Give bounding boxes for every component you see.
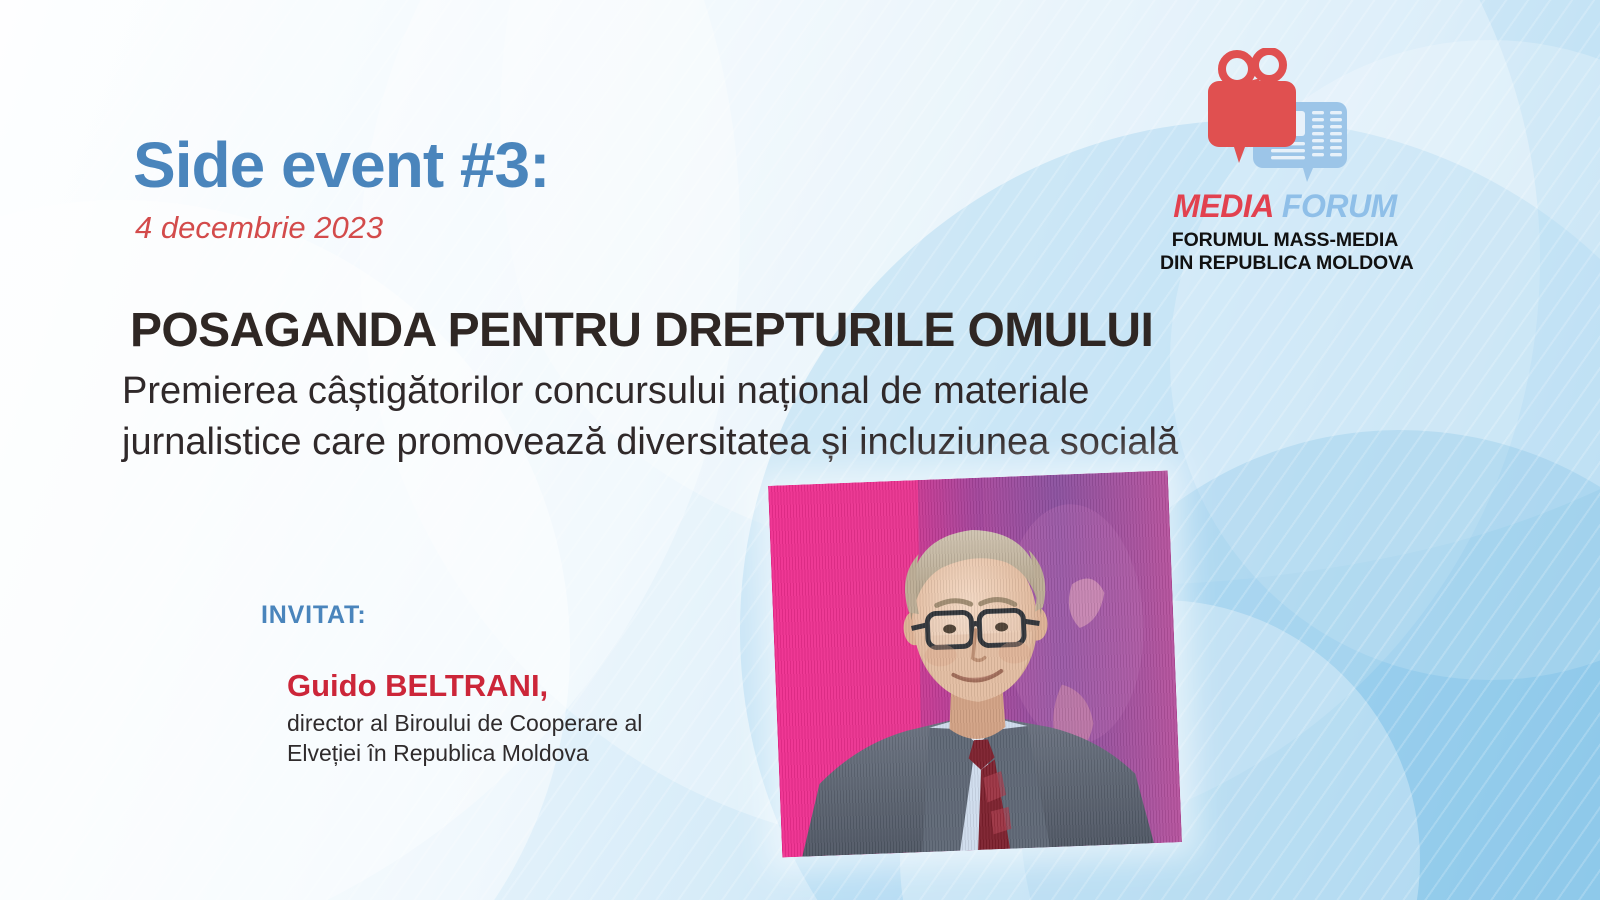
subtitle-line-1: Premierea câștigătorilor concursului naț… bbox=[122, 366, 1178, 417]
portrait-illustration bbox=[768, 470, 1182, 857]
event-date: 4 decembrie 2023 bbox=[135, 210, 383, 246]
logo-subtitle: FORUMUL MASS-MEDIA DIN REPUBLICA MOLDOVA bbox=[1160, 229, 1410, 275]
logo-subtitle-line-1: FORUMUL MASS-MEDIA bbox=[1160, 229, 1410, 252]
guest-photo bbox=[768, 470, 1182, 857]
logo-word-media: MEDIA bbox=[1173, 188, 1274, 224]
event-poster: Side event #3: 4 decembrie 2023 POSAGAND… bbox=[0, 0, 1600, 900]
event-kicker: Side event #3: bbox=[133, 133, 549, 198]
guest-label: INVITAT: bbox=[261, 601, 366, 630]
guest-role: director al Biroului de Cooperare al Elv… bbox=[287, 708, 642, 769]
logo-wordmark: MEDIAFORUM bbox=[1160, 190, 1410, 222]
logo-subtitle-line-2: DIN REPUBLICA MOLDOVA bbox=[1160, 252, 1410, 275]
logo-word-forum: FORUM bbox=[1282, 188, 1397, 224]
guest-name: Guido BELTRANI, bbox=[287, 668, 548, 704]
media-forum-logo: MEDIAFORUM FORUMUL MASS-MEDIA DIN REPUBL… bbox=[1160, 48, 1410, 275]
subtitle-line-2: jurnalistice care promovează diversitate… bbox=[122, 417, 1178, 468]
page-title: POSAGANDA PENTRU DREPTURILE OMULUI bbox=[130, 303, 1153, 358]
page-subtitle: Premierea câștigătorilor concursului naț… bbox=[122, 366, 1178, 467]
photo-frame bbox=[768, 470, 1182, 857]
logo-mark bbox=[1185, 48, 1385, 184]
guest-role-line-1: director al Biroului de Cooperare al bbox=[287, 708, 642, 738]
video-camera-speech-bubble-icon bbox=[1208, 51, 1296, 163]
logo-icons bbox=[1185, 48, 1385, 184]
guest-role-line-2: Elveției în Republica Moldova bbox=[287, 738, 642, 768]
